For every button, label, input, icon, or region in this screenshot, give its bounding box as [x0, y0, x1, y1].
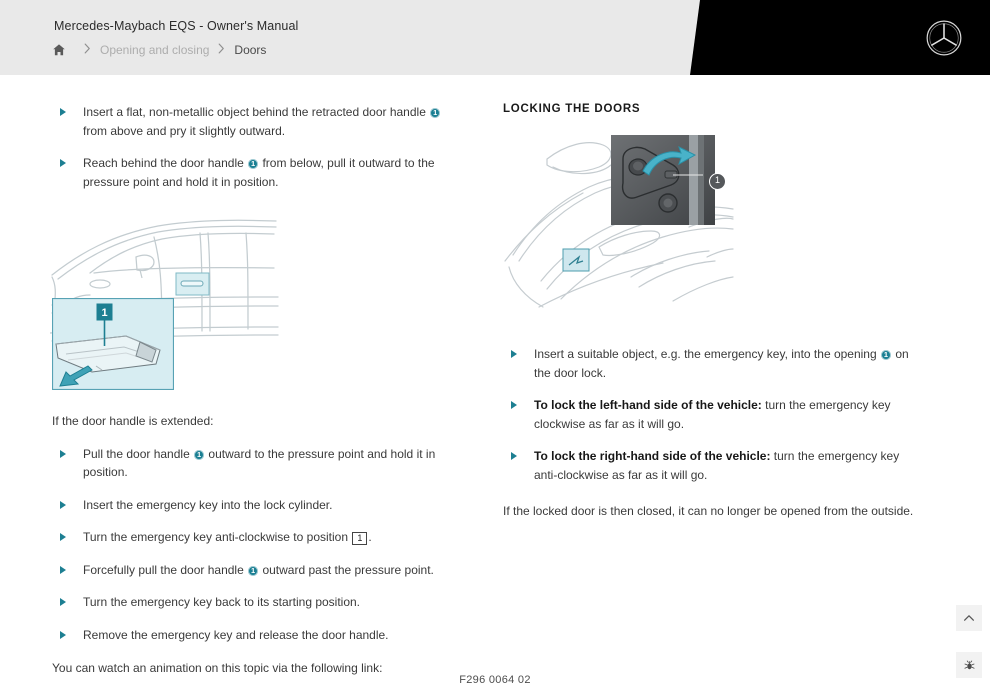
bullet-triangle-icon: [60, 566, 66, 574]
owners-manual-page: Mercedes-Maybach EQS - Owner's Manual Op…: [0, 0, 990, 700]
bullet-triangle-icon: [60, 533, 66, 541]
callout-badge: 1: [194, 450, 204, 460]
breadcrumb-item-opening-and-closing[interactable]: Opening and closing: [100, 43, 209, 57]
list-item-text: Reach behind the door handle 1 from belo…: [83, 156, 435, 189]
callout-badge: 1: [430, 108, 440, 118]
list-item: Insert the emergency key into the lock c…: [52, 496, 452, 515]
chevron-up-icon: [962, 611, 976, 625]
bug-icon: [963, 659, 976, 672]
locking-step-list: Insert a suitable object, e.g. the emerg…: [503, 345, 921, 484]
bullet-triangle-icon: [60, 450, 66, 458]
list-item-text: To lock the left-hand side of the vehicl…: [534, 398, 891, 431]
scroll-to-top-button[interactable]: [956, 605, 982, 631]
section-heading-locking-the-doors: LOCKING THE DOORS: [503, 103, 921, 115]
page-header: Mercedes-Maybach EQS - Owner's Manual Op…: [0, 0, 990, 75]
list-item: Turn the emergency key back to its start…: [52, 593, 452, 612]
callout-badge: 1: [248, 159, 258, 169]
bullet-triangle-icon: [60, 108, 66, 116]
breadcrumb-separator-2: [218, 43, 225, 57]
list-item: To lock the right-hand side of the vehic…: [503, 447, 921, 484]
extended-intro-text: If the door handle is extended:: [52, 413, 452, 431]
figure-callout-right: 1: [709, 173, 726, 190]
intro-step-list: Insert a flat, non-metallic object behin…: [52, 103, 452, 191]
list-item: Forcefully pull the door handle 1 outwar…: [52, 561, 452, 580]
list-item: Pull the door handle 1 outward to the pr…: [52, 445, 452, 482]
list-item: Reach behind the door handle 1 from belo…: [52, 154, 452, 191]
list-item: Turn the emergency key anti-clockwise to…: [52, 528, 452, 547]
list-item-text: Pull the door handle 1 outward to the pr…: [83, 447, 435, 480]
door-handle-side-view-figure: 1 1: [52, 213, 452, 409]
list-item-text: Insert a suitable object, e.g. the emerg…: [534, 347, 909, 380]
breadcrumb-separator-1: [84, 43, 91, 57]
svg-text:1: 1: [101, 307, 107, 319]
list-item-text: To lock the right-hand side of the vehic…: [534, 449, 899, 482]
bullet-triangle-icon: [511, 350, 517, 358]
mercedes-star-logo-icon: [925, 19, 963, 57]
breadcrumb-item-doors[interactable]: Doors: [234, 43, 266, 57]
bullet-triangle-icon: [60, 598, 66, 606]
extended-step-list: Pull the door handle 1 outward to the pr…: [52, 445, 452, 645]
list-item-text: Turn the emergency key anti-clockwise to…: [83, 530, 372, 544]
callout-badge: 1: [881, 350, 891, 360]
list-item-text: Insert a flat, non-metallic object behin…: [83, 105, 441, 138]
callout-box-number: 1: [352, 532, 367, 545]
list-item: Remove the emergency key and release the…: [52, 626, 452, 645]
left-column: Insert a flat, non-metallic object behin…: [52, 103, 452, 678]
figure-reference-number: F296 0064 02: [0, 674, 990, 686]
bullet-triangle-icon: [60, 159, 66, 167]
list-item-text: Turn the emergency key back to its start…: [83, 595, 360, 609]
bullet-triangle-icon: [511, 452, 517, 460]
right-closing-note: If the locked door is then closed, it ca…: [503, 503, 921, 521]
list-item-text: Remove the emergency key and release the…: [83, 628, 389, 642]
door-lock-interior-figure: 1: [503, 137, 921, 327]
bullet-triangle-icon: [511, 401, 517, 409]
list-item: To lock the left-hand side of the vehicl…: [503, 396, 921, 433]
callout-badge: 1: [248, 566, 258, 576]
list-item: Insert a flat, non-metallic object behin…: [52, 103, 452, 140]
right-column: LOCKING THE DOORS: [503, 103, 921, 521]
home-icon[interactable]: [52, 43, 66, 57]
emphasis-text: To lock the right-hand side of the vehic…: [534, 449, 770, 463]
bullet-triangle-icon: [60, 631, 66, 639]
feedback-button[interactable]: [956, 652, 982, 678]
breadcrumb: Opening and closing Doors: [52, 41, 266, 59]
page-title: Mercedes-Maybach EQS - Owner's Manual: [54, 19, 298, 33]
emphasis-text: To lock the left-hand side of the vehicl…: [534, 398, 762, 412]
page-content: Insert a flat, non-metallic object behin…: [0, 75, 990, 700]
bullet-triangle-icon: [60, 501, 66, 509]
list-item: Insert a suitable object, e.g. the emerg…: [503, 345, 921, 382]
list-item-text: Forcefully pull the door handle 1 outwar…: [83, 563, 434, 577]
list-item-text: Insert the emergency key into the lock c…: [83, 498, 332, 512]
